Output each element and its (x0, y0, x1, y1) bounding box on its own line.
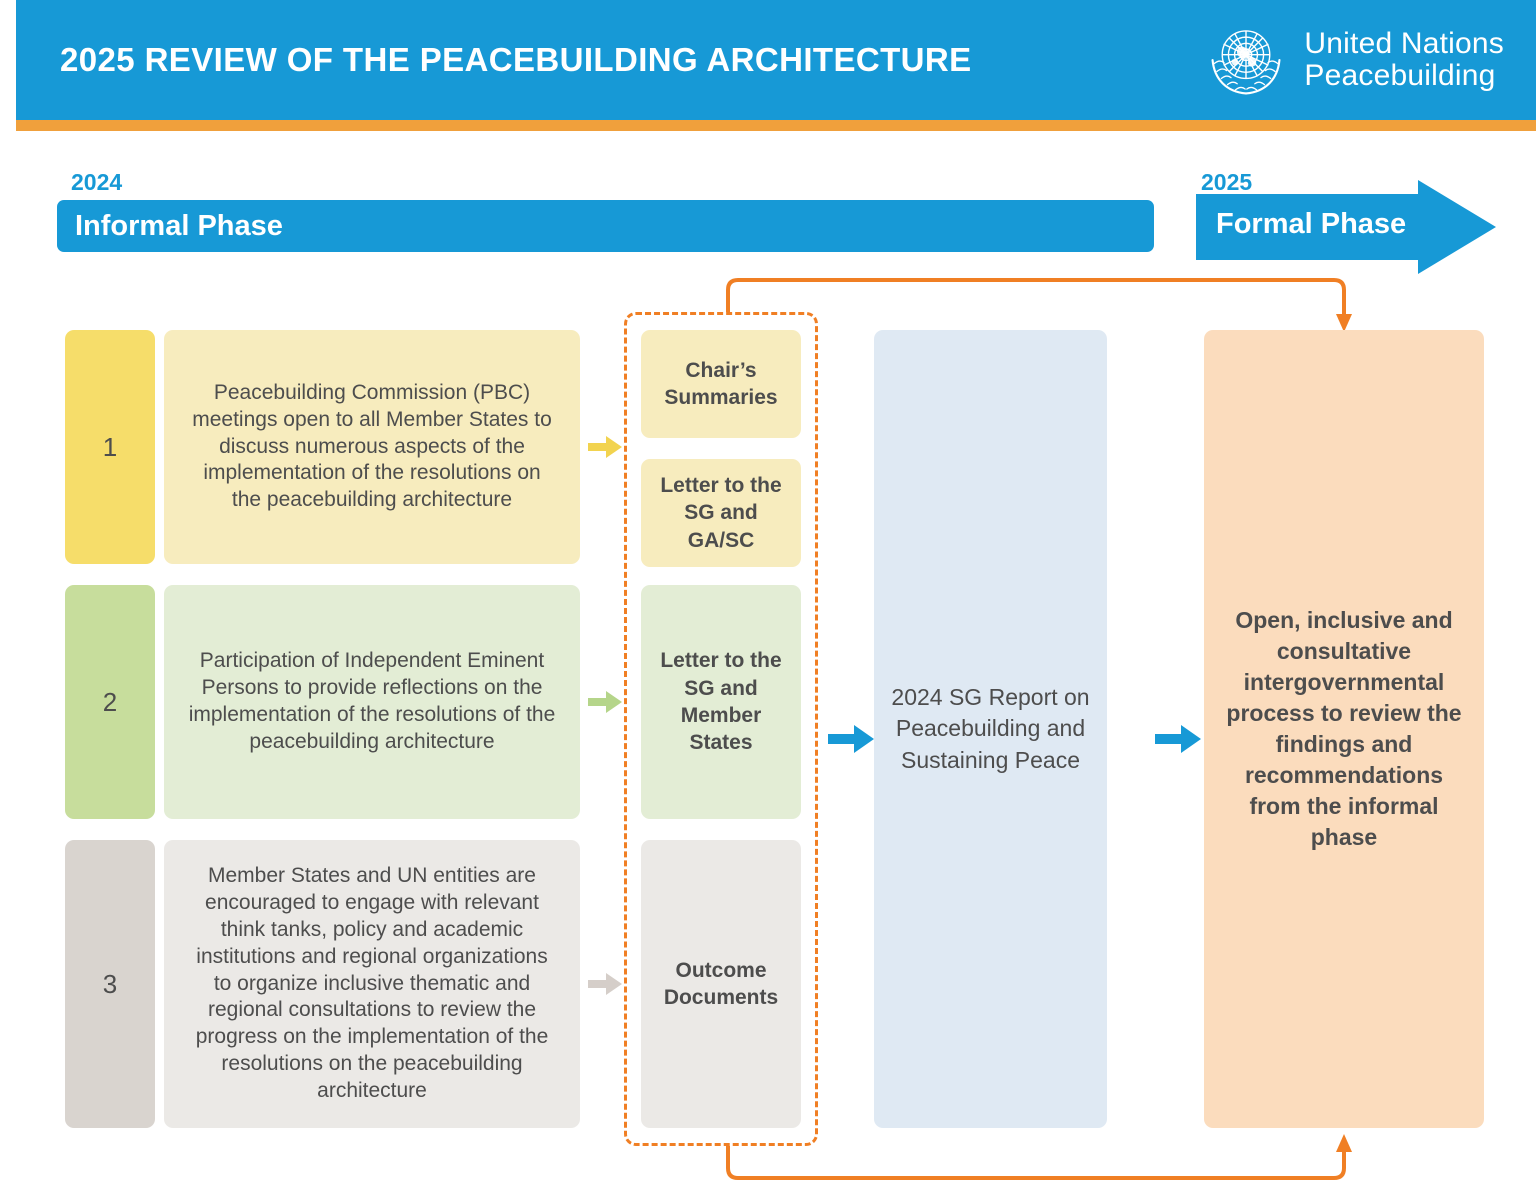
formal-phase-label: Formal Phase (1216, 208, 1406, 241)
step-description-1: Peacebuilding Commission (PBC) meetings … (164, 330, 580, 564)
arrow-right-icon (1155, 722, 1201, 756)
process-diagram: 1 Peacebuilding Commission (PBC) meeting… (0, 0, 1536, 1195)
step-number-chip-1: 1 (65, 330, 155, 564)
output-document-1: Chair’s Summaries (641, 330, 801, 438)
sg-report-box: 2024 SG Report on Peacebuilding and Sust… (874, 330, 1107, 1128)
arrow-right-icon (588, 434, 622, 460)
output-document-4: Outcome Documents (641, 840, 801, 1128)
output-document-2: Letter to the SG and GA/SC (641, 459, 801, 567)
formal-phase-outcome-box: Open, inclusive and consultative intergo… (1204, 330, 1484, 1128)
arrow-right-icon (828, 722, 874, 756)
arrow-right-icon (588, 971, 622, 997)
step-description-2: Participation of Independent Eminent Per… (164, 585, 580, 819)
arrow-up-icon (1336, 1134, 1352, 1152)
step-description-3: Member States and UN entities are encour… (164, 840, 580, 1128)
step-number-chip-2: 2 (65, 585, 155, 819)
arrow-right-icon (588, 689, 622, 715)
step-number-chip-3: 3 (65, 840, 155, 1128)
output-document-3: Letter to the SG and Member States (641, 585, 801, 819)
